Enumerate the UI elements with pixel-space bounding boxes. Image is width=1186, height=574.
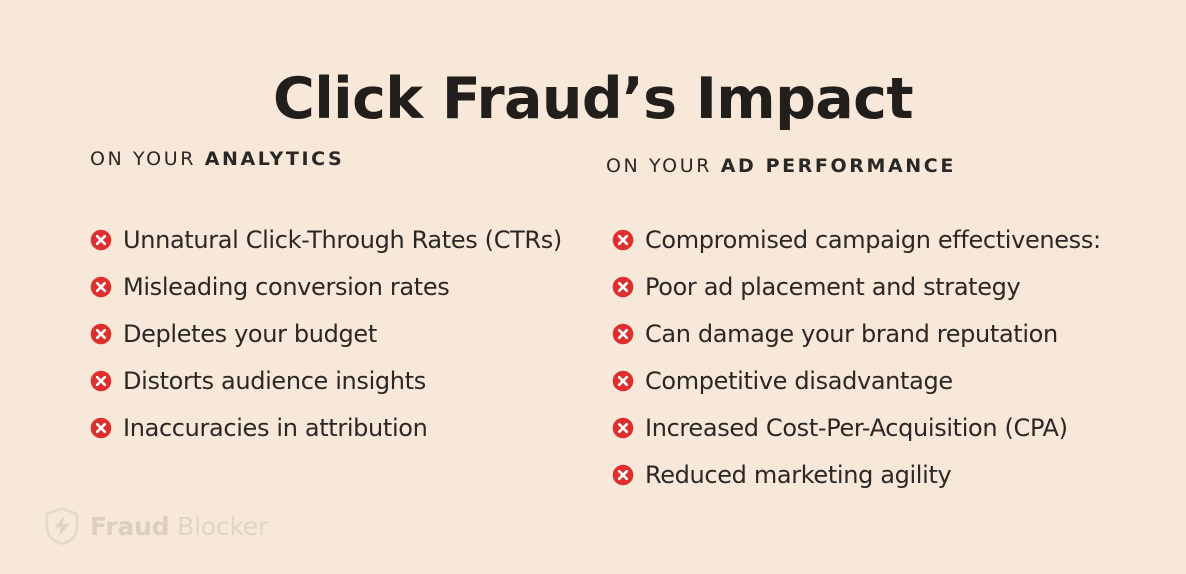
list-item-label: Distorts audience insights: [123, 369, 426, 393]
x-circle-icon: [612, 417, 634, 439]
list-item-label: Depletes your budget: [123, 322, 377, 346]
fraud-blocker-logo: Fraud Blocker: [45, 504, 268, 548]
list-item-label: Unnatural Click-Through Rates (CTRs): [123, 228, 562, 252]
x-circle-icon: [90, 417, 112, 439]
list-item-label: Reduced marketing agility: [645, 463, 951, 487]
ad-performance-bullet-list: Compromised campaign effectiveness:Poor …: [612, 216, 1101, 498]
list-item: Inaccuracies in attribution: [90, 404, 562, 451]
x-circle-icon: [90, 323, 112, 345]
list-item: Poor ad placement and strategy: [612, 263, 1101, 310]
logo-wordmark: Fraud Blocker: [90, 514, 268, 539]
list-item-label: Inaccuracies in attribution: [123, 416, 427, 440]
x-circle-icon: [612, 464, 634, 486]
list-item-label: Increased Cost-Per-Acquisition (CPA): [645, 416, 1068, 440]
logo-word-fraud: Fraud: [90, 512, 169, 541]
list-item: Unnatural Click-Through Rates (CTRs): [90, 216, 562, 263]
list-item: Distorts audience insights: [90, 357, 562, 404]
list-item: Compromised campaign effectiveness:: [612, 216, 1101, 263]
impact-columns: ON YOUR ANALYTICS Unnatural Click-Throug…: [0, 0, 1186, 574]
x-circle-icon: [612, 323, 634, 345]
list-item: Can damage your brand reputation: [612, 310, 1101, 357]
list-item-label: Compromised campaign effectiveness:: [645, 228, 1101, 252]
list-item: Reduced marketing agility: [612, 451, 1101, 498]
x-circle-icon: [612, 370, 634, 392]
x-circle-icon: [612, 276, 634, 298]
ad-performance-header-prefix: ON YOUR: [606, 155, 721, 177]
analytics-bullet-list: Unnatural Click-Through Rates (CTRs)Misl…: [90, 216, 562, 451]
list-item: Depletes your budget: [90, 310, 562, 357]
x-circle-icon: [90, 276, 112, 298]
x-circle-icon: [612, 229, 634, 251]
shield-bolt-icon: [45, 507, 79, 545]
list-item-label: Can damage your brand reputation: [645, 322, 1058, 346]
list-item: Increased Cost-Per-Acquisition (CPA): [612, 404, 1101, 451]
list-item: Competitive disadvantage: [612, 357, 1101, 404]
x-circle-icon: [90, 229, 112, 251]
list-item-label: Competitive disadvantage: [645, 369, 953, 393]
logo-word-blocker: Blocker: [169, 512, 268, 541]
analytics-header-strong: ANALYTICS: [205, 148, 345, 170]
list-item: Misleading conversion rates: [90, 263, 562, 310]
ad-performance-column-header: ON YOUR AD PERFORMANCE: [606, 157, 956, 176]
analytics-column-header: ON YOUR ANALYTICS: [90, 150, 344, 169]
analytics-header-prefix: ON YOUR: [90, 148, 205, 170]
x-circle-icon: [90, 370, 112, 392]
ad-performance-header-strong: AD PERFORMANCE: [721, 155, 956, 177]
slide-canvas: Click Fraud’s Impact ON YOUR ANALYTICS U…: [0, 0, 1186, 574]
list-item-label: Poor ad placement and strategy: [645, 275, 1020, 299]
list-item-label: Misleading conversion rates: [123, 275, 449, 299]
